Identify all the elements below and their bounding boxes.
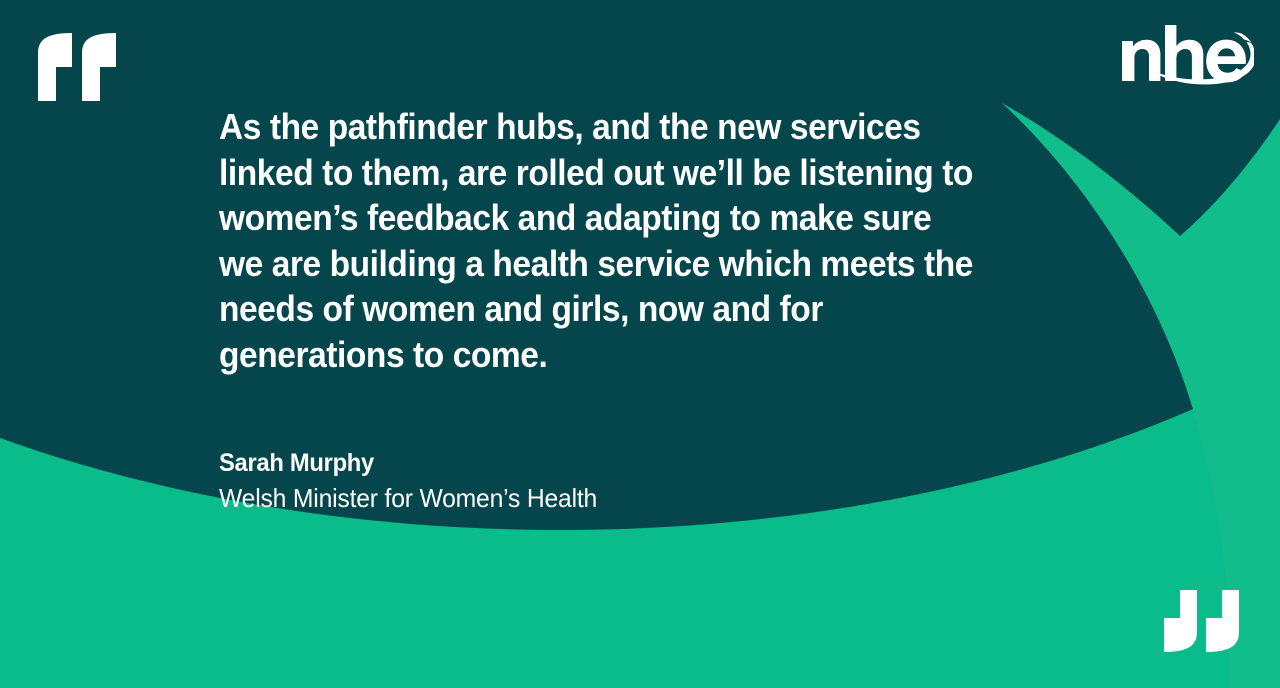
quote-text: As the pathfinder hubs, and the new serv…: [219, 104, 982, 377]
quote-card: As the pathfinder hubs, and the new serv…: [0, 0, 1280, 688]
author-role: Welsh Minister for Women’s Health: [219, 480, 941, 516]
nhe-logo[interactable]: [1114, 25, 1254, 95]
opening-quote-icon: [38, 33, 116, 101]
author-name: Sarah Murphy: [219, 446, 941, 480]
quote-text-block: As the pathfinder hubs, and the new serv…: [219, 104, 979, 377]
closing-quote-icon: [1164, 590, 1239, 652]
attribution-block: Sarah Murphy Welsh Minister for Women’s …: [219, 446, 979, 516]
